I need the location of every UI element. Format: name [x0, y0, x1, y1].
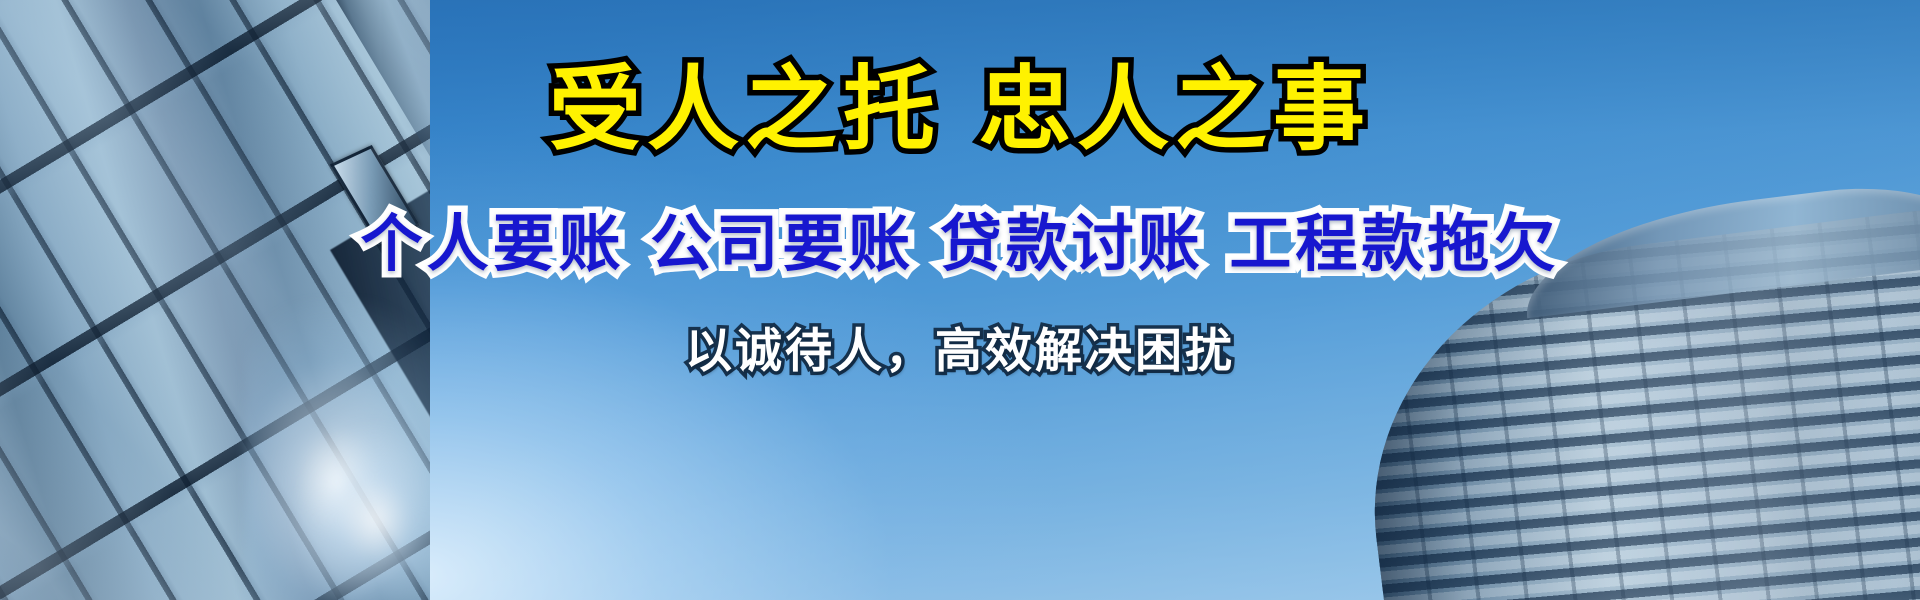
banner-tagline: 以诚待人，高效解决困扰 [685, 326, 1235, 378]
banner-text-stack: 受人之托 忠人之事 个人要账 公司要账 贷款讨账 工程款拖欠 以诚待人，高效解决… [0, 0, 1920, 600]
promo-banner: 受人之托 忠人之事 个人要账 公司要账 贷款讨账 工程款拖欠 以诚待人，高效解决… [0, 0, 1920, 600]
banner-service-line: 个人要账 公司要账 贷款讨账 工程款拖欠 [361, 211, 1560, 278]
banner-headline: 受人之托 忠人之事 [549, 62, 1371, 159]
